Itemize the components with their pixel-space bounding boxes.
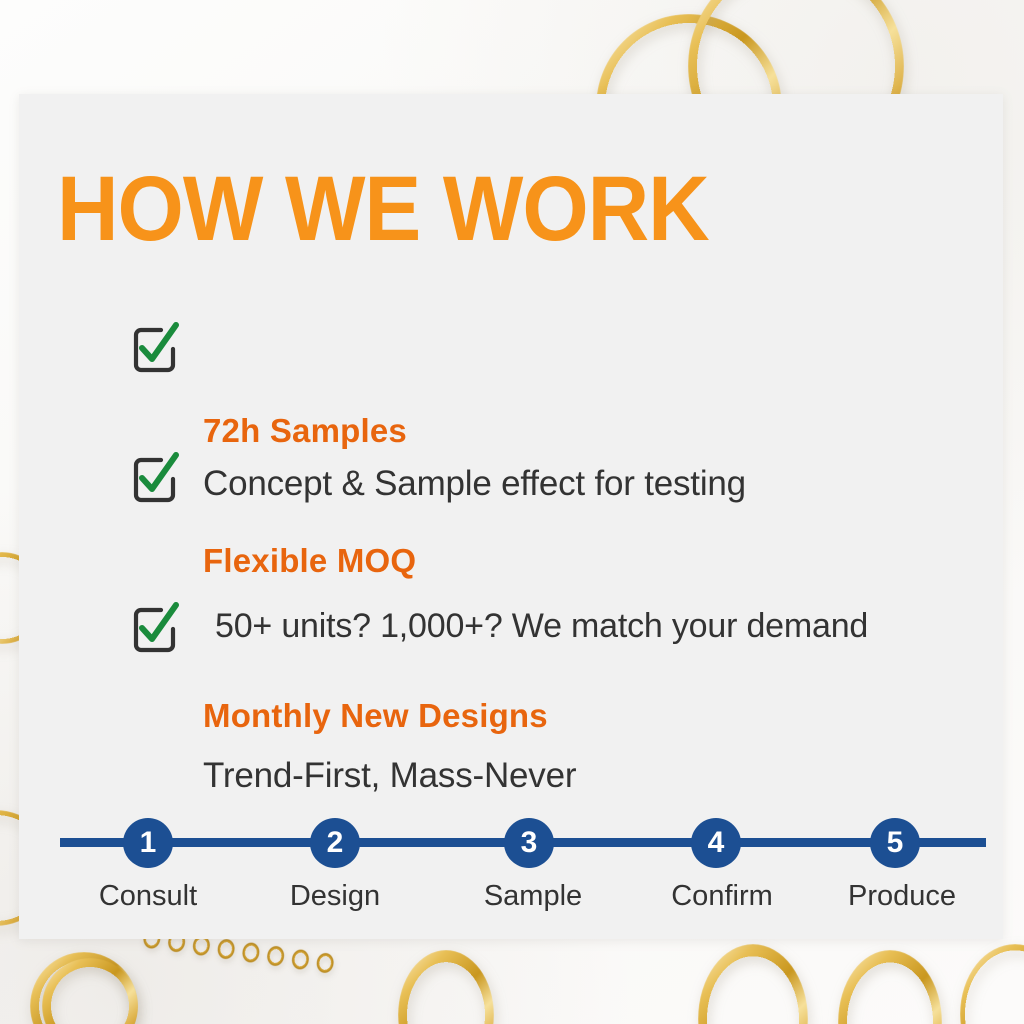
checkbox-checked-icon: [127, 602, 183, 658]
timeline-step-5-label: Produce: [848, 880, 956, 913]
timeline-step-4[interactable]: 4: [691, 818, 741, 868]
info-card: HOW WE WORK 72h Samples Concept & Sample…: [19, 94, 1003, 939]
timeline-step-4-label: Confirm: [671, 880, 773, 913]
feature-body: 50+ units? 1,000+? We match your demand: [215, 607, 868, 646]
checkbox-checked-icon: [127, 322, 183, 378]
poster-canvas: HOW WE WORK 72h Samples Concept & Sample…: [0, 0, 1024, 1024]
gold-hoop-bottom-far-right-icon: [960, 944, 1024, 1024]
process-timeline: 1 Consult 2 Design 3 Sample 4 Confirm 5 …: [19, 754, 1003, 884]
feature-heading: Flexible MOQ: [203, 542, 416, 580]
timeline-step-2[interactable]: 2: [310, 818, 360, 868]
timeline-step-1[interactable]: 1: [123, 818, 173, 868]
timeline-step-2-label: Design: [290, 880, 380, 913]
gold-hoop-bottom-right-2-icon: [838, 950, 942, 1024]
gold-hoop-bottom-right-1-icon: [698, 944, 808, 1024]
feature-body: Concept & Sample effect for testing: [203, 464, 746, 504]
gold-hoop-bottom-mid-icon: [398, 950, 494, 1024]
feature-heading: 72h Samples: [203, 412, 407, 450]
timeline-step-3-label: Sample: [484, 880, 582, 913]
timeline-step-5[interactable]: 5: [870, 818, 920, 868]
checkbox-checked-icon: [127, 452, 183, 508]
page-title: HOW WE WORK: [57, 164, 709, 256]
timeline-step-1-label: Consult: [99, 880, 197, 913]
feature-heading: Monthly New Designs: [203, 697, 548, 735]
timeline-step-3[interactable]: 3: [504, 818, 554, 868]
